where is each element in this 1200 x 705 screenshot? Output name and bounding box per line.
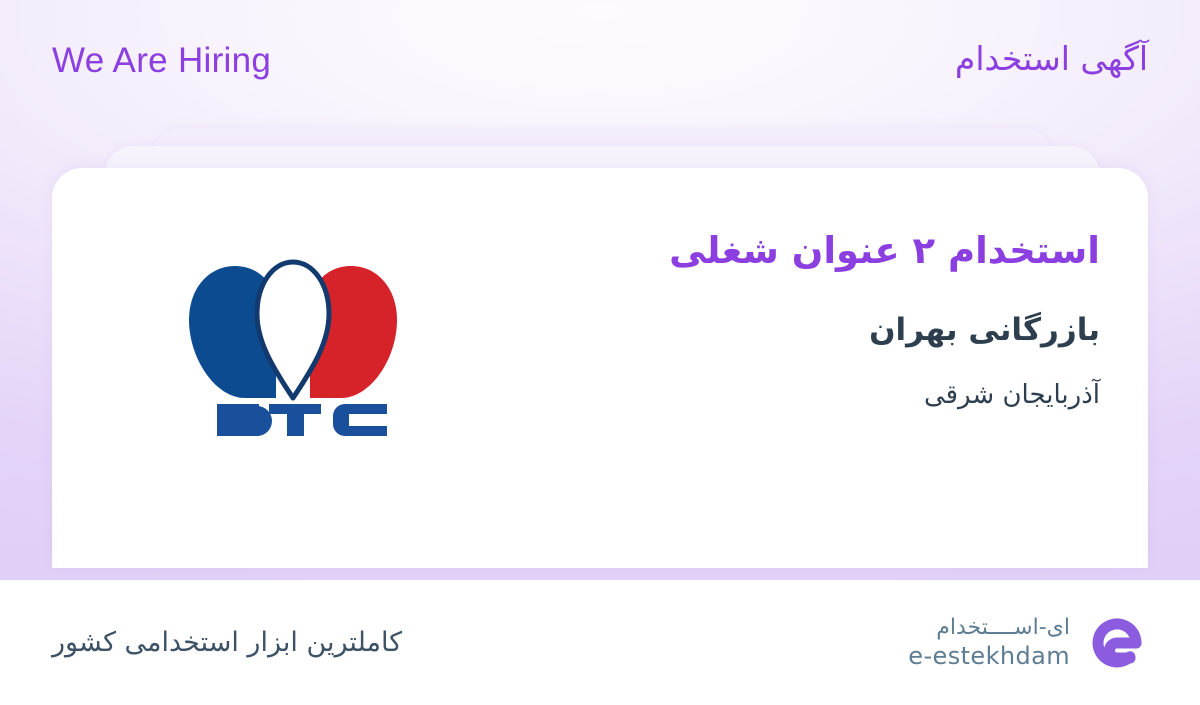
hero-title-persian: آگهی استخدام — [955, 38, 1148, 81]
hero-title-english: We Are Hiring — [52, 40, 271, 82]
job-info-column: استخدام ۲ عنوان شغلی بازرگانی بهران آذرب… — [534, 168, 1148, 414]
footer-bar: کاملترین ابزار استخدامی کشور ای-اســــتخ… — [0, 580, 1200, 705]
job-ad-page: We Are Hiring آگهی استخدام استخدام ۲ عنو… — [0, 0, 1200, 705]
job-card-content: استخدام ۲ عنوان شغلی بازرگانی بهران آذرب… — [52, 168, 1148, 568]
company-name: بازرگانی بهران — [534, 308, 1100, 353]
job-location: آذربایجان شرقی — [534, 377, 1100, 415]
brand-wordmark: ای-اســــتخدام e-estekhdam — [908, 614, 1070, 672]
brand-name-persian: ای-اســــتخدام — [936, 614, 1070, 642]
btc-logo-icon — [173, 246, 413, 436]
company-logo-column — [52, 168, 534, 436]
e-estekhdam-logo-icon — [1086, 612, 1148, 674]
brand-name-english: e-estekhdam — [908, 641, 1070, 671]
site-brand[interactable]: ای-اســــتخدام e-estekhdam — [908, 612, 1148, 674]
hero-section: We Are Hiring آگهی استخدام استخدام ۲ عنو… — [0, 0, 1200, 580]
footer-tagline: کاملترین ابزار استخدامی کشور — [52, 624, 402, 662]
job-title: استخدام ۲ عنوان شغلی — [534, 224, 1100, 278]
